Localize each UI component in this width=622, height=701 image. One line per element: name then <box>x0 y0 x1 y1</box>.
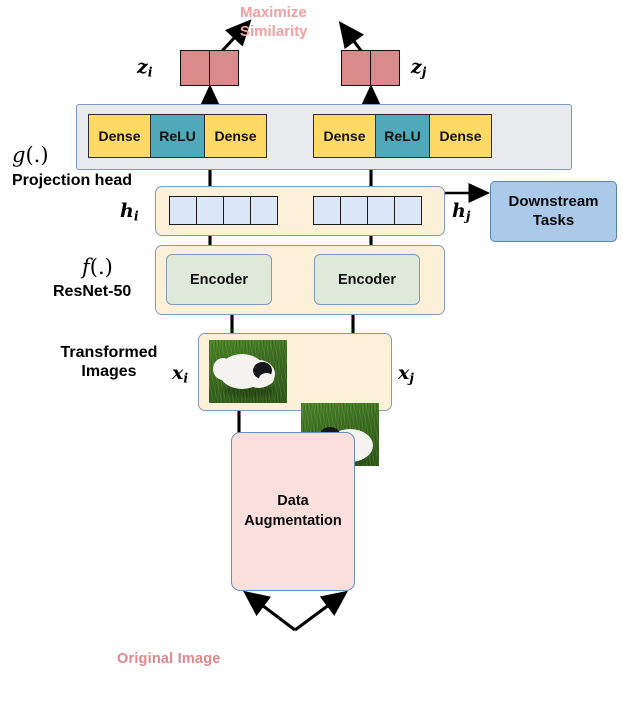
representation-cell <box>340 196 368 225</box>
dense-layer-1-j[interactable]: Dense <box>313 114 376 158</box>
dense-layer-2-i[interactable]: Dense <box>204 114 267 158</box>
original-image-label: Original Image <box>117 651 221 667</box>
dense-layer-1-i[interactable]: Dense <box>88 114 151 158</box>
projection-head-branch-j: Dense ReLU Dense <box>313 114 492 158</box>
representation-cell <box>394 196 422 225</box>
representation-cell <box>196 196 224 225</box>
encoder-function-symbol: f(.) <box>82 255 113 279</box>
embedding-label-zi: zi <box>137 56 153 80</box>
dense-layer-2-j[interactable]: Dense <box>429 114 492 158</box>
transformed-image-xi <box>209 340 287 403</box>
g-paren: (.) <box>25 143 48 167</box>
embedding-cell <box>370 50 400 86</box>
representation-vector-hj <box>313 196 422 225</box>
embedding-cell <box>180 50 210 86</box>
relu-layer-i[interactable]: ReLU <box>150 114 205 158</box>
maximize-similarity-label: Maximize Similarity <box>240 4 370 42</box>
representation-label-hj: hj <box>452 200 470 224</box>
representation-cell <box>250 196 278 225</box>
data-augmentation-box[interactable]: Data Augmentation <box>231 432 355 591</box>
transformed-label-xi: xi <box>172 362 188 386</box>
downstream-tasks-box[interactable]: Downstream Tasks <box>490 181 617 242</box>
encoder-branch-i[interactable]: Encoder <box>166 254 272 305</box>
simclr-diagram: Maximize Similarity zi zj Dense ReLU Den… <box>0 0 622 701</box>
embedding-cell <box>341 50 371 86</box>
embedding-label-zj: zj <box>411 56 426 80</box>
relu-layer-j[interactable]: ReLU <box>375 114 430 158</box>
representation-label-hi: hi <box>120 200 139 224</box>
encoder-label: ResNet-50 <box>53 283 131 302</box>
representation-vector-hi <box>169 196 278 225</box>
f-paren: (.) <box>90 255 113 279</box>
representation-cell <box>367 196 395 225</box>
g-symbol: g <box>12 143 25 167</box>
representation-cell <box>169 196 197 225</box>
f-symbol: f <box>82 255 90 279</box>
representation-cell <box>313 196 341 225</box>
projection-head-label: Projection head <box>12 172 132 191</box>
projection-head-function-symbol: g(.) <box>12 143 49 167</box>
encoder-branch-j[interactable]: Encoder <box>314 254 420 305</box>
transformed-images-label: Transformed Images <box>48 344 170 382</box>
representation-cell <box>223 196 251 225</box>
embedding-vector-zj <box>341 50 400 86</box>
embedding-vector-zi <box>180 50 239 86</box>
embedding-cell <box>209 50 239 86</box>
projection-head-branch-i: Dense ReLU Dense <box>88 114 267 158</box>
transformed-label-xj: xj <box>398 362 414 386</box>
dog-tail <box>213 358 233 380</box>
dog-muzzle <box>259 373 274 385</box>
